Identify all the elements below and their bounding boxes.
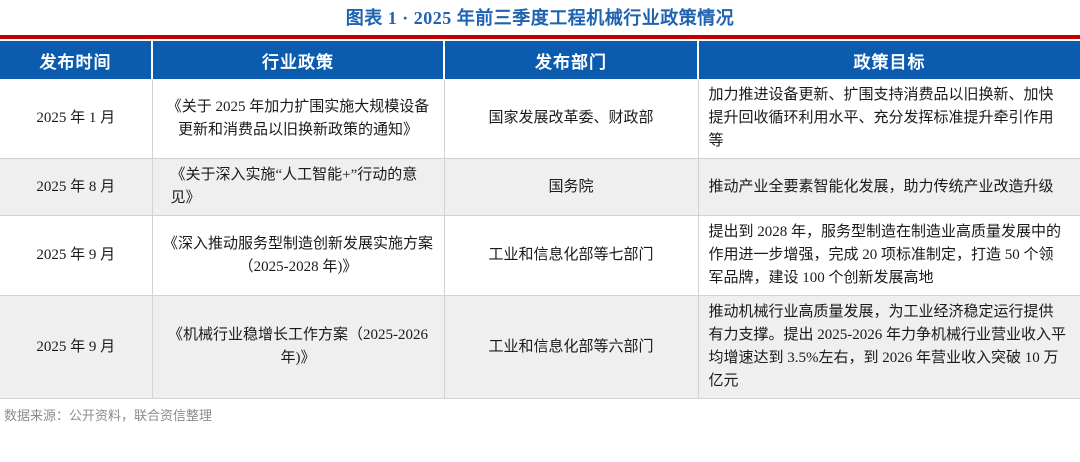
cell-policy-goal: 加力推进设备更新、扩围支持消费品以旧换新、加快提升回收循环利用水平、充分发挥标准… (698, 79, 1080, 159)
table-row: 2025 年 9 月 《机械行业稳增长工作方案（2025-2026 年)》 工业… (0, 296, 1080, 399)
policy-table: 发布时间 行业政策 发布部门 政策目标 2025 年 1 月 《关于 2025 … (0, 41, 1080, 399)
table-row: 2025 年 9 月 《深入推动服务型制造创新发展实施方案（2025-2028 … (0, 216, 1080, 296)
figure-page: 图表 1 · 2025 年前三季度工程机械行业政策情况 发布时间 行业政策 发布… (0, 0, 1080, 462)
cell-industry-policy: 《关于 2025 年加力扩围实施大规模设备更新和消费品以旧换新政策的通知》 (152, 79, 444, 159)
cell-policy-goal: 推动产业全要素智能化发展，助力传统产业改造升级 (698, 159, 1080, 216)
cell-industry-policy: 《深入推动服务型制造创新发展实施方案（2025-2028 年)》 (152, 216, 444, 296)
column-header-release-time: 发布时间 (0, 41, 152, 79)
cell-issuing-department: 国务院 (444, 159, 698, 216)
cell-release-time: 2025 年 9 月 (0, 216, 152, 296)
cell-policy-goal: 提出到 2028 年，服务型制造在制造业高质量发展中的作用进一步增强，完成 20… (698, 216, 1080, 296)
cell-industry-policy: 《机械行业稳增长工作方案（2025-2026 年)》 (152, 296, 444, 399)
cell-issuing-department: 国家发展改革委、财政部 (444, 79, 698, 159)
table-body: 2025 年 1 月 《关于 2025 年加力扩围实施大规模设备更新和消费品以旧… (0, 79, 1080, 399)
source-note: 数据来源：公开资料，联合资信整理 (0, 399, 1080, 425)
page-title: 图表 1 · 2025 年前三季度工程机械行业政策情况 (0, 0, 1080, 35)
cell-policy-goal: 推动机械行业高质量发展，为工业经济稳定运行提供有力支撑。提出 2025-2026… (698, 296, 1080, 399)
cell-industry-policy: 《关于深入实施“人工智能+”行动的意见》 (152, 159, 444, 216)
column-header-policy-goal: 政策目标 (698, 41, 1080, 79)
cell-issuing-department: 工业和信息化部等六部门 (444, 296, 698, 399)
table-header: 发布时间 行业政策 发布部门 政策目标 (0, 41, 1080, 79)
cell-release-time: 2025 年 8 月 (0, 159, 152, 216)
column-header-issuing-department: 发布部门 (444, 41, 698, 79)
policy-table-wrapper: 发布时间 行业政策 发布部门 政策目标 2025 年 1 月 《关于 2025 … (0, 35, 1080, 399)
table-row: 2025 年 1 月 《关于 2025 年加力扩围实施大规模设备更新和消费品以旧… (0, 79, 1080, 159)
cell-release-time: 2025 年 1 月 (0, 79, 152, 159)
cell-issuing-department: 工业和信息化部等七部门 (444, 216, 698, 296)
cell-release-time: 2025 年 9 月 (0, 296, 152, 399)
table-header-row: 发布时间 行业政策 发布部门 政策目标 (0, 41, 1080, 79)
column-header-industry-policy: 行业政策 (152, 41, 444, 79)
table-row: 2025 年 8 月 《关于深入实施“人工智能+”行动的意见》 国务院 推动产业… (0, 159, 1080, 216)
